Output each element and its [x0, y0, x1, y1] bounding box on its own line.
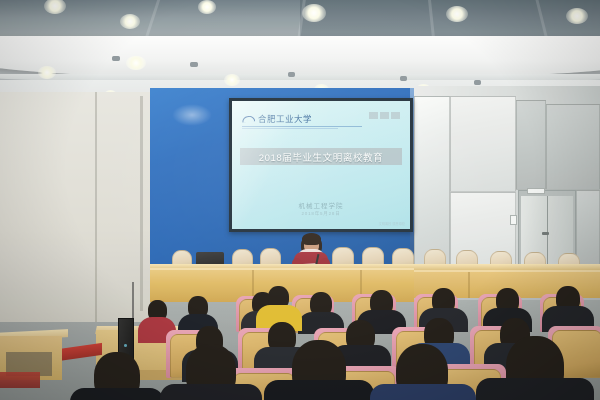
track-spotlight — [288, 72, 295, 77]
recessed-downlight — [38, 66, 56, 79]
wall-panel — [414, 96, 450, 272]
ceiling-light — [198, 0, 216, 14]
ceiling-light — [120, 14, 140, 29]
screen-glare — [232, 101, 410, 229]
desk-seam — [468, 272, 470, 298]
audience-shoulders — [476, 378, 594, 400]
wall-panel — [516, 100, 546, 190]
speaker-hair — [302, 233, 321, 245]
recessed-downlight — [224, 74, 240, 86]
pc-power-led — [124, 344, 127, 347]
track-spotlight — [112, 56, 120, 61]
light-switch-panel[interactable] — [510, 215, 517, 225]
ceiling-light — [302, 4, 326, 22]
audience-shoulders — [264, 380, 374, 400]
audience-shoulders-blue — [370, 384, 476, 400]
audience-shoulders — [70, 388, 164, 400]
wall-left — [0, 92, 150, 322]
wall-seam — [140, 96, 143, 311]
track-spotlight — [190, 62, 198, 67]
projection-screen: 合肥工业大学 2018届毕业生文明离校教育 机械工程学院 2018年5月28日 … — [232, 101, 410, 229]
wall-panel — [546, 104, 600, 190]
exit-sign — [527, 188, 545, 194]
power-cable — [132, 282, 134, 322]
wall-highlight — [172, 104, 212, 126]
lecture-hall-photo: 合肥工业大学 2018届毕业生文明离校教育 机械工程学院 2018年5月28日 … — [0, 0, 600, 400]
ceiling-light — [446, 6, 468, 22]
audience-shoulders — [160, 384, 262, 400]
track-spotlight — [400, 76, 407, 81]
wall-panel — [450, 96, 516, 192]
ceiling-light — [566, 8, 588, 24]
recessed-downlight — [126, 56, 146, 70]
track-spotlight — [474, 80, 481, 85]
red-carpet — [0, 372, 40, 388]
wall-seam — [95, 92, 97, 322]
door-handle[interactable] — [542, 232, 549, 235]
